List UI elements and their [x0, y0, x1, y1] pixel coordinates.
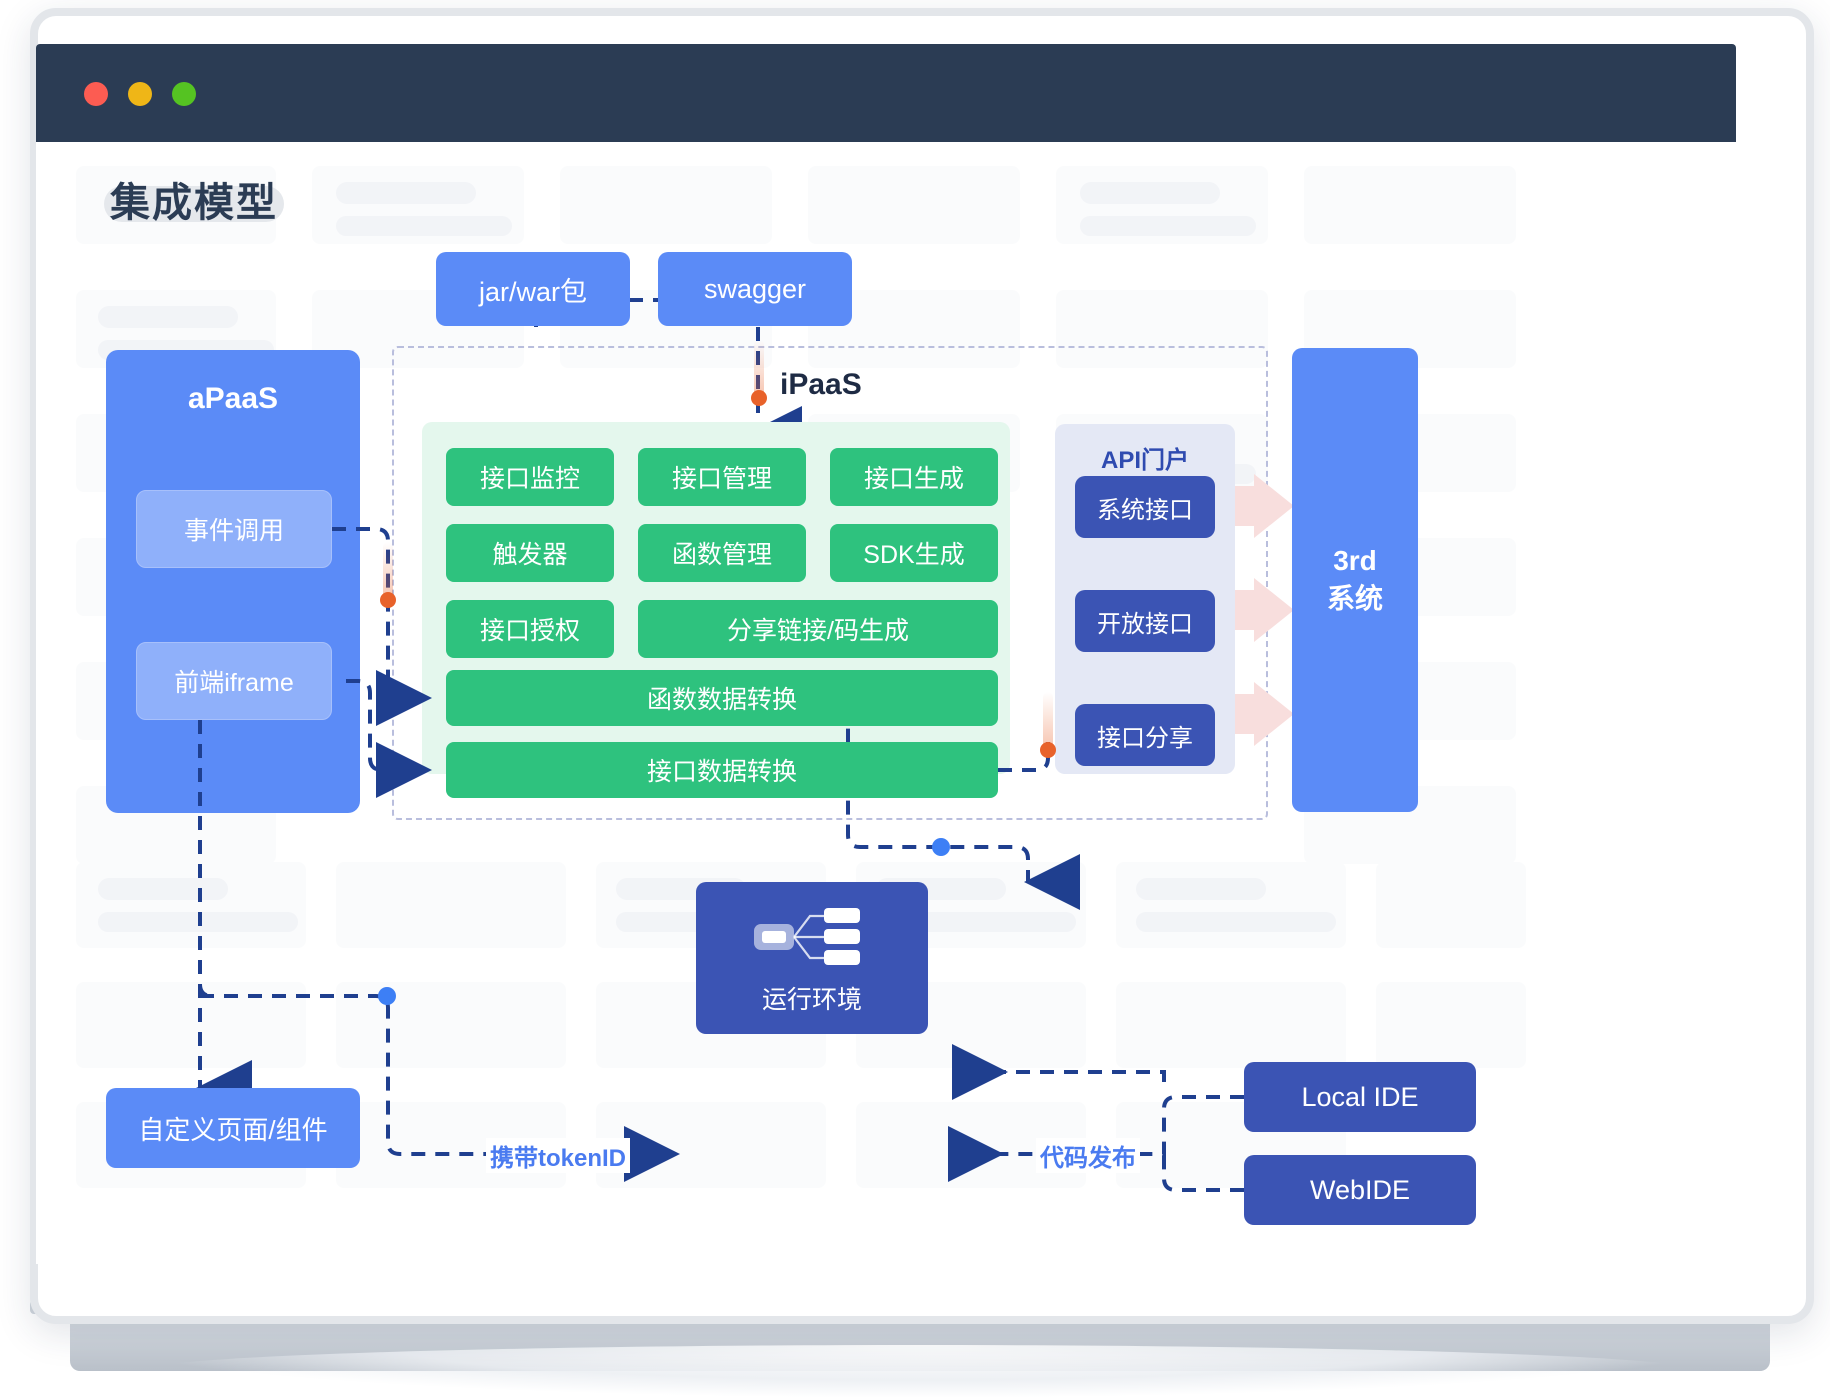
node-label: SDK生成	[863, 535, 964, 571]
skeleton-pill	[1136, 878, 1266, 900]
node-frontend-iframe[interactable]: 前端iframe	[136, 642, 332, 720]
node-custom-page[interactable]: 自定义页面/组件	[106, 1088, 360, 1168]
node-label: 接口授权	[480, 611, 580, 647]
window-titlebar	[36, 44, 1736, 142]
minimize-yellow-icon[interactable]	[128, 82, 152, 106]
node-trigger[interactable]: 触发器	[446, 524, 614, 582]
node-api-generate[interactable]: 接口生成	[830, 448, 998, 506]
skeleton-pill	[1080, 182, 1220, 204]
node-label: 函数数据转换	[647, 680, 797, 716]
window-traffic-lights	[84, 82, 196, 106]
skeleton-pill	[1080, 216, 1256, 236]
node-label: 自定义页面/组件	[138, 1110, 327, 1147]
skeleton-block	[1376, 982, 1526, 1068]
monitor-stand-shadow	[140, 1345, 1700, 1397]
node-runtime-label: 运行环境	[696, 980, 928, 1016]
node-label: 触发器	[492, 535, 567, 571]
node-label: 分享链接/码生成	[727, 611, 909, 647]
node-label: 接口生成	[864, 459, 964, 495]
node-label: 接口管理	[672, 459, 772, 495]
node-function-manage[interactable]: 函数管理	[638, 524, 806, 582]
node-api-monitor[interactable]: 接口监控	[446, 448, 614, 506]
node-label: 接口分享	[1097, 718, 1193, 753]
node-label: WebIDE	[1310, 1175, 1410, 1206]
skeleton-pill	[336, 182, 476, 204]
node-label: 接口数据转换	[647, 752, 797, 788]
skeleton-block	[76, 982, 306, 1068]
skeleton-block	[808, 166, 1020, 244]
node-api-share[interactable]: 接口分享	[1075, 704, 1215, 766]
flow-dot-orange	[751, 390, 767, 406]
node-event-invoke[interactable]: 事件调用	[136, 490, 332, 568]
maximize-green-icon[interactable]	[172, 82, 196, 106]
skeleton-block	[560, 166, 772, 244]
node-label: 接口监控	[480, 459, 580, 495]
panel-apaas-title: aPaaS	[106, 382, 360, 416]
node-function-data-transform[interactable]: 函数数据转换	[446, 670, 998, 726]
node-label: jar/war包	[479, 270, 587, 309]
node-label: Local IDE	[1301, 1082, 1418, 1113]
edge-label-code-publish: 代码发布	[1036, 1138, 1140, 1173]
screenshot-root: 集成模型 jar/war包 swagger	[0, 0, 1830, 1397]
skeleton-pill	[98, 878, 228, 900]
third-party-line2: 系统	[1327, 580, 1383, 618]
flow-dot-blue	[378, 987, 396, 1005]
skeleton-pill	[336, 216, 512, 236]
flow-dot-orange	[380, 592, 396, 608]
skeleton-block	[596, 1102, 826, 1188]
node-label: 前端iframe	[174, 663, 293, 699]
panel-apaas[interactable]: aPaaS	[106, 350, 360, 813]
mindmap-tree-icon	[752, 898, 872, 976]
panel-ipaas-title: iPaaS	[780, 368, 862, 402]
node-label: 开放接口	[1097, 604, 1193, 639]
skeleton-pill	[98, 306, 238, 328]
node-local-ide[interactable]: Local IDE	[1244, 1062, 1476, 1132]
page-canvas: 集成模型 jar/war包 swagger	[36, 142, 1736, 1264]
skeleton-pill	[98, 912, 298, 932]
panel-api-gateway-title: API门户	[1055, 440, 1235, 475]
edge-label-carry-token: 携带tokenID	[486, 1138, 630, 1173]
skeleton-block	[336, 982, 566, 1068]
node-api-manage[interactable]: 接口管理	[638, 448, 806, 506]
node-swagger[interactable]: swagger	[658, 252, 852, 326]
skeleton-block	[1116, 862, 1346, 948]
skeleton-block	[1304, 166, 1516, 244]
flow-dot-orange	[1040, 742, 1056, 758]
node-label: 事件调用	[184, 511, 284, 547]
skeleton-block	[336, 862, 566, 948]
close-red-icon[interactable]	[84, 82, 108, 106]
node-share-link[interactable]: 分享链接/码生成	[638, 600, 998, 658]
skeleton-block	[1376, 862, 1526, 948]
node-label: 系统接口	[1097, 490, 1193, 525]
skeleton-pill	[1136, 912, 1336, 932]
node-api-auth[interactable]: 接口授权	[446, 600, 614, 658]
skeleton-block	[1116, 982, 1346, 1068]
node-sdk-generate[interactable]: SDK生成	[830, 524, 998, 582]
skeleton-block	[76, 862, 306, 948]
node-third-party-system[interactable]: 3rd 系统	[1292, 348, 1418, 812]
node-label: swagger	[704, 274, 806, 305]
node-runtime-env[interactable]: 运行环境	[696, 882, 928, 1034]
node-system-api[interactable]: 系统接口	[1075, 476, 1215, 538]
page-title: 集成模型	[110, 170, 278, 228]
node-label: 函数管理	[672, 535, 772, 571]
node-jar-war[interactable]: jar/war包	[436, 252, 630, 326]
node-api-data-transform[interactable]: 接口数据转换	[446, 742, 998, 798]
node-open-api[interactable]: 开放接口	[1075, 590, 1215, 652]
flow-dot-blue	[932, 838, 950, 856]
third-party-line1: 3rd	[1333, 542, 1377, 580]
node-web-ide[interactable]: WebIDE	[1244, 1155, 1476, 1225]
